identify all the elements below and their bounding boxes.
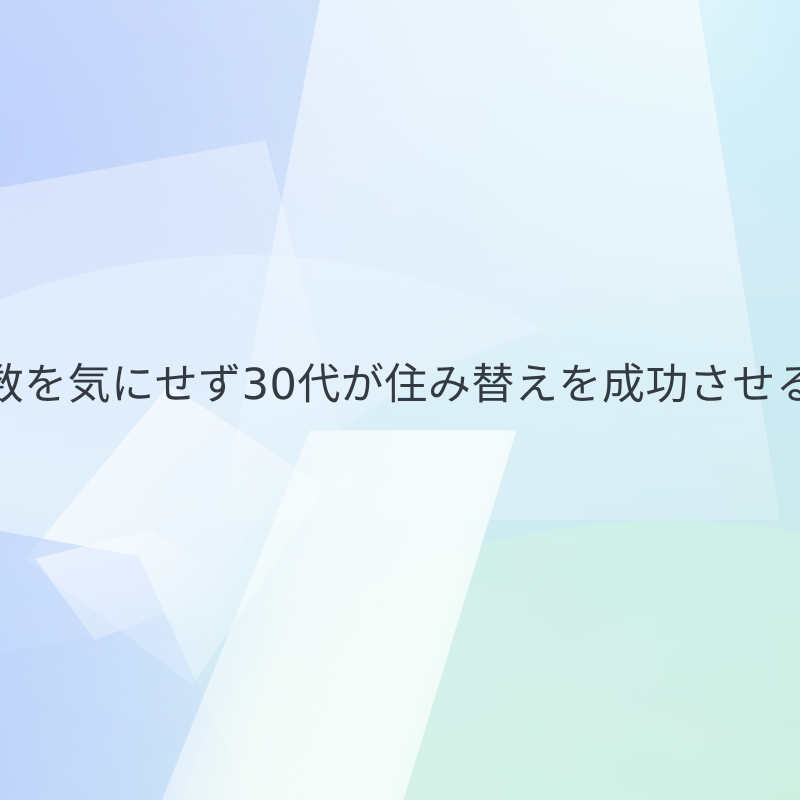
background-cyan-top-right xyxy=(0,0,800,800)
headline-container: 築年数を気にせず30代が住み替えを成功させる方法 xyxy=(0,357,800,413)
shape-bottom-left-facet xyxy=(35,530,235,640)
headline-title: 築年数を気にせず30代が住み替えを成功させる方法 xyxy=(0,362,800,408)
background-sheen-overlay xyxy=(0,0,800,800)
background-mint-bottom-right xyxy=(0,0,800,800)
shape-center-diamond xyxy=(25,385,325,685)
shape-bottom-mint-arc xyxy=(180,520,800,800)
shape-right-lower-arc xyxy=(215,295,800,800)
background-periwinkle-bottom-left xyxy=(0,0,800,800)
background-periwinkle-left xyxy=(0,0,800,800)
shape-center-large-arc xyxy=(0,255,780,800)
background-base-gradient xyxy=(0,0,800,800)
shape-bright-diagonal-band xyxy=(150,430,620,800)
shape-top-trapezoid xyxy=(220,0,780,520)
shape-left-sheet xyxy=(0,140,380,660)
shape-bottom-left-wedge xyxy=(0,520,260,800)
eyecatch-banner: 築年数を気にせず30代が住み替えを成功させる方法 xyxy=(0,0,800,800)
shape-top-soft-glow xyxy=(330,0,800,320)
